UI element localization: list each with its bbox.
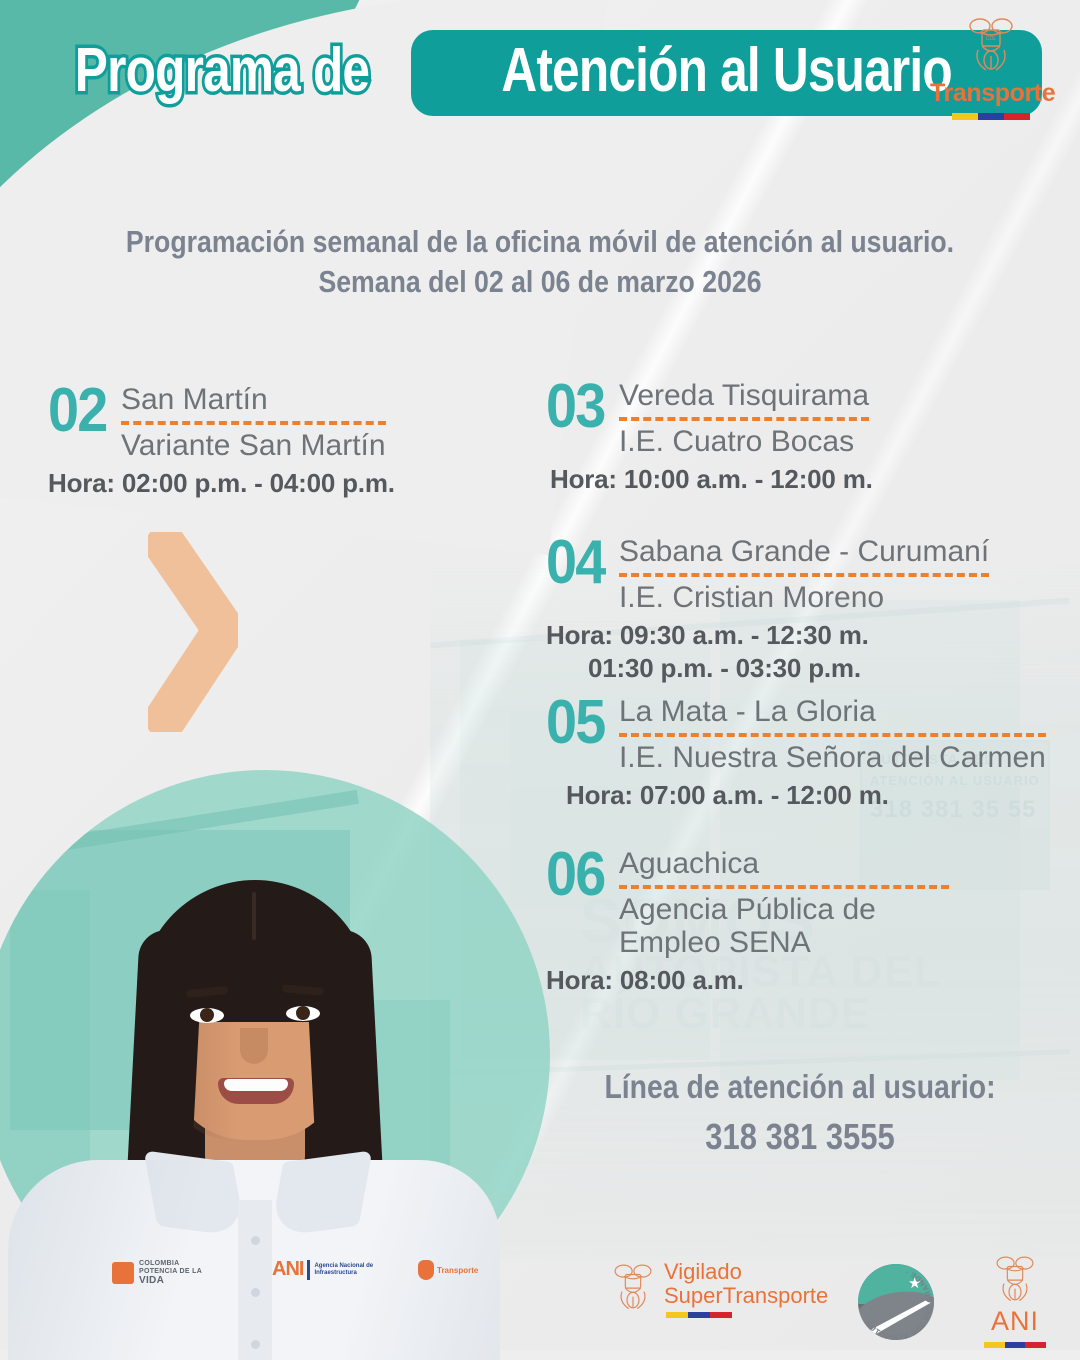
entry-hours: Hora: 02:00 p.m. - 04:00 p.m. xyxy=(48,468,395,499)
contact-phone[interactable]: 318 381 3555 xyxy=(559,1116,1041,1158)
shirt-logo-ani-sub1: Agencia Nacional de xyxy=(314,1263,373,1269)
title-line-2: Atención al Usuario xyxy=(501,38,952,104)
entry-venue: I.E. Cristian Moreno xyxy=(619,581,989,614)
ani-logo-text: ANI xyxy=(960,1306,1070,1337)
day-number: 03 xyxy=(546,378,604,437)
transporte-logo: COL Transporte xyxy=(930,16,1052,120)
day-number: 04 xyxy=(546,534,604,593)
colombia-coat-of-arms-icon xyxy=(992,1254,1038,1308)
vigilado-line-2: SuperTransporte xyxy=(664,1284,828,1308)
day-number: 06 xyxy=(546,846,604,905)
footer-logos: Vigilado SuperTransporte ★ · AUTOPISTA D… xyxy=(600,1252,1080,1352)
contact-block: Línea de atención al usuario: 318 381 35… xyxy=(520,1068,1080,1158)
entry-venue-line-2: Empleo SENA xyxy=(619,926,949,959)
ani-logo: ANI xyxy=(960,1254,1070,1348)
schedule-entry-02[interactable]: 02 San Martín Variante San Martín Hora: … xyxy=(48,382,395,499)
entry-location: Aguachica xyxy=(619,848,949,880)
autopista-rio-grande-logo: ★ · AUTOPISTA DEL RÍO GRANDE · xyxy=(850,1258,942,1350)
svg-text:COL: COL xyxy=(986,36,997,42)
schedule-entry-06[interactable]: 06 Aguachica Agencia Pública de Empleo S… xyxy=(546,846,949,996)
schedule-entry-04[interactable]: 04 Sabana Grande - Curumaní I.E. Cristia… xyxy=(546,534,989,684)
divider-dashed xyxy=(619,573,989,577)
entry-hours: Hora: 07:00 a.m. - 12:00 m. xyxy=(546,780,1046,811)
shirt-logo-ani-name: ANI xyxy=(272,1258,303,1281)
entry-location: Sabana Grande - Curumaní xyxy=(619,536,989,568)
entry-location: Vereda Tisquirama xyxy=(619,380,869,412)
contact-label: Línea de atención al usuario: xyxy=(559,1068,1041,1106)
colombia-coat-of-arms-icon xyxy=(610,1261,656,1317)
entry-location: San Martín xyxy=(121,384,386,416)
entry-hours: Hora: 08:00 a.m. xyxy=(546,965,949,996)
shirt-logo-ani-divider xyxy=(307,1260,310,1280)
transporte-logo-text: Transporte xyxy=(930,79,1052,108)
shirt-logo-transporte-name: Transporte xyxy=(437,1266,478,1275)
shirt-logo-colombia-line1: COLOMBIA xyxy=(139,1260,180,1267)
coat-of-arms-small-icon xyxy=(418,1260,434,1280)
colombia-flag-bar xyxy=(952,113,1030,120)
colombia-flag-bar xyxy=(666,1312,732,1318)
schedule-entry-05[interactable]: 05 La Mata - La Gloria I.E. Nuestra Seño… xyxy=(546,694,1046,811)
entry-hours: Hora: 09:30 a.m. - 12:30 m. xyxy=(546,620,989,651)
day-number: 02 xyxy=(48,382,106,441)
person-photo: COLOMBIA POTENCIA DE LA VIDA ANI Agencia… xyxy=(0,860,500,1350)
subtitle-line-1: Programación semanal de la oficina móvil… xyxy=(76,222,1005,262)
subtitle-line-2: Semana del 02 al 06 de marzo 2026 xyxy=(76,262,1005,302)
shirt-logo-transporte: Transporte xyxy=(418,1260,478,1280)
day-number: 05 xyxy=(546,694,604,753)
vigilado-line-1: Vigilado xyxy=(664,1260,828,1284)
divider-dashed xyxy=(619,885,949,889)
colombia-coat-of-arms-icon: COL xyxy=(964,16,1018,78)
svg-text:· AUTOPISTA DEL RÍO GRANDE ·: · AUTOPISTA DEL RÍO GRANDE · xyxy=(861,1267,934,1342)
autopista-ring-text: · AUTOPISTA DEL RÍO GRANDE · xyxy=(850,1258,942,1350)
title-line-1: Programa de xyxy=(75,39,369,103)
vigilado-supertransporte-logo: Vigilado SuperTransporte xyxy=(610,1260,828,1318)
watermark-line-3: RÍO GRANDE xyxy=(580,992,871,1037)
shirt-logo-colombia: COLOMBIA POTENCIA DE LA VIDA xyxy=(112,1260,202,1286)
page-title: Programa de Atención al Usuario xyxy=(0,24,1080,116)
entry-hours: Hora: 10:00 a.m. - 12:00 m. xyxy=(546,464,873,495)
entry-venue: I.E. Cuatro Bocas xyxy=(619,425,869,458)
chevron-right-icon xyxy=(148,532,238,732)
shirt-logo-colombia-line2: POTENCIA DE LA xyxy=(139,1268,202,1275)
entry-venue: Agencia Pública de xyxy=(619,893,949,926)
divider-dashed xyxy=(121,421,386,425)
schedule-entry-03[interactable]: 03 Vereda Tisquirama I.E. Cuatro Bocas H… xyxy=(546,378,873,495)
colombia-potencia-icon xyxy=(112,1262,134,1284)
shirt-logo-colombia-line3: VIDA xyxy=(139,1275,202,1286)
entry-venue: Variante San Martín xyxy=(121,429,386,462)
divider-dashed xyxy=(619,733,1046,737)
subtitle: Programación semanal de la oficina móvil… xyxy=(0,222,1080,303)
entry-hours-secondary: 01:30 p.m. - 03:30 p.m. xyxy=(546,653,989,684)
shirt-logo-ani: ANI Agencia Nacional de Infraestructura xyxy=(272,1258,373,1281)
shirt-logo-ani-sub2: Infraestructura xyxy=(314,1270,356,1276)
colombia-flag-bar xyxy=(984,1342,1046,1348)
divider-dashed xyxy=(619,417,869,421)
entry-venue: I.E. Nuestra Señora del Carmen xyxy=(619,741,1046,774)
entry-location: La Mata - La Gloria xyxy=(619,696,1046,728)
